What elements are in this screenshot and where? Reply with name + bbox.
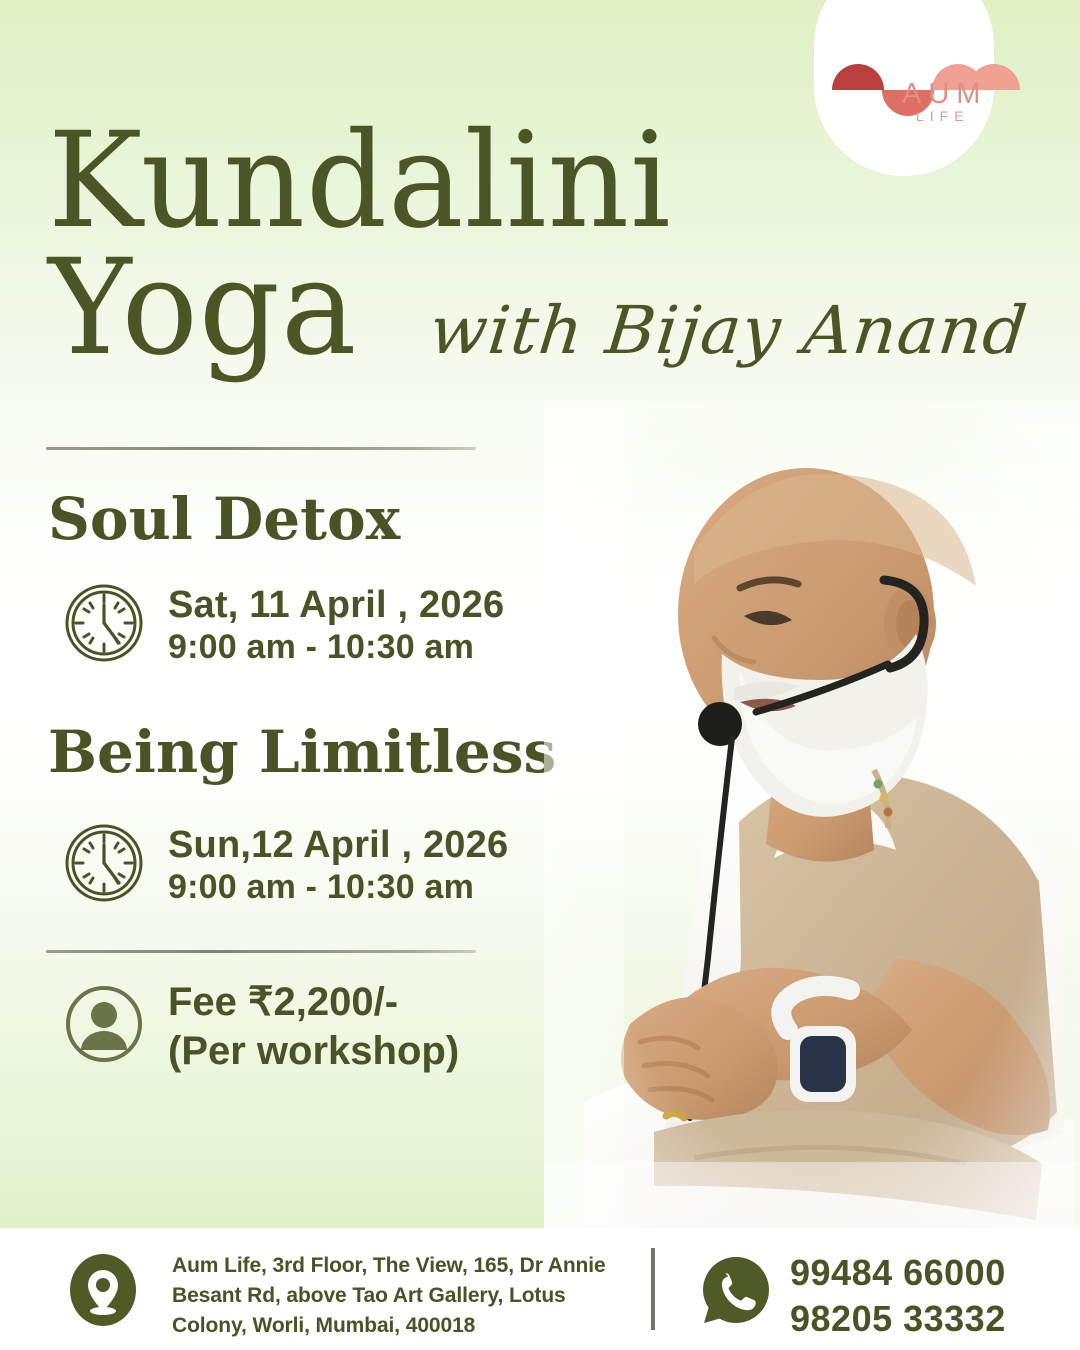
session-2-time: 9:00 am - 10:30 am <box>168 867 508 908</box>
instructor-script-line: with Bijay Anand <box>426 292 1031 369</box>
fee-row: Fee ₹2,200/- (Per workshop) <box>64 978 459 1076</box>
session-row-1: Sat, 11 April , 2026 9:00 am - 10:30 am <box>64 583 504 668</box>
address-text: Aum Life, 3rd Floor, The View, 165, Dr A… <box>172 1251 612 1340</box>
session-1-date: Sat, 11 April , 2026 <box>168 583 504 627</box>
session-title-being-limitless: Being Limitless <box>48 718 556 786</box>
phone-numbers[interactable]: 99484 66000 98205 33332 <box>790 1250 1006 1342</box>
instructor-photo <box>544 402 1080 1232</box>
session-2-date: Sun,12 April , 2026 <box>168 823 508 867</box>
logo-arc-1 <box>832 64 884 90</box>
clock-icon <box>64 823 144 908</box>
session-row-2: Sun,12 April , 2026 9:00 am - 10:30 am <box>64 823 508 908</box>
fee-note: (Per workshop) <box>168 1027 459 1076</box>
poster-root: AUM LIFE Kundalini Yoga with Bijay Anand… <box>0 0 1080 1350</box>
phone-number-1[interactable]: 99484 66000 <box>790 1250 1006 1296</box>
divider-top <box>46 447 476 450</box>
clock-icon <box>64 583 144 668</box>
map-pin-icon <box>70 1254 136 1326</box>
whatsapp-icon[interactable] <box>700 1254 772 1326</box>
fee-amount: Fee ₹2,200/- <box>168 978 459 1027</box>
footer-bar: Aum Life, 3rd Floor, The View, 165, Dr A… <box>0 1228 1080 1350</box>
session-title-soul-detox: Soul Detox <box>48 485 400 553</box>
phone-number-2[interactable]: 98205 33332 <box>790 1296 1006 1342</box>
session-1-time: 9:00 am - 10:30 am <box>168 627 504 668</box>
footer-divider <box>651 1248 655 1330</box>
logo-subtext: LIFE <box>916 108 970 124</box>
person-icon <box>64 984 144 1069</box>
logo-wordmark: AUM <box>902 78 987 111</box>
fee-details: Fee ₹2,200/- (Per workshop) <box>168 978 459 1076</box>
divider-bottom <box>46 950 476 953</box>
session-1-details: Sat, 11 April , 2026 9:00 am - 10:30 am <box>168 583 504 668</box>
session-2-details: Sun,12 April , 2026 9:00 am - 10:30 am <box>168 823 508 908</box>
